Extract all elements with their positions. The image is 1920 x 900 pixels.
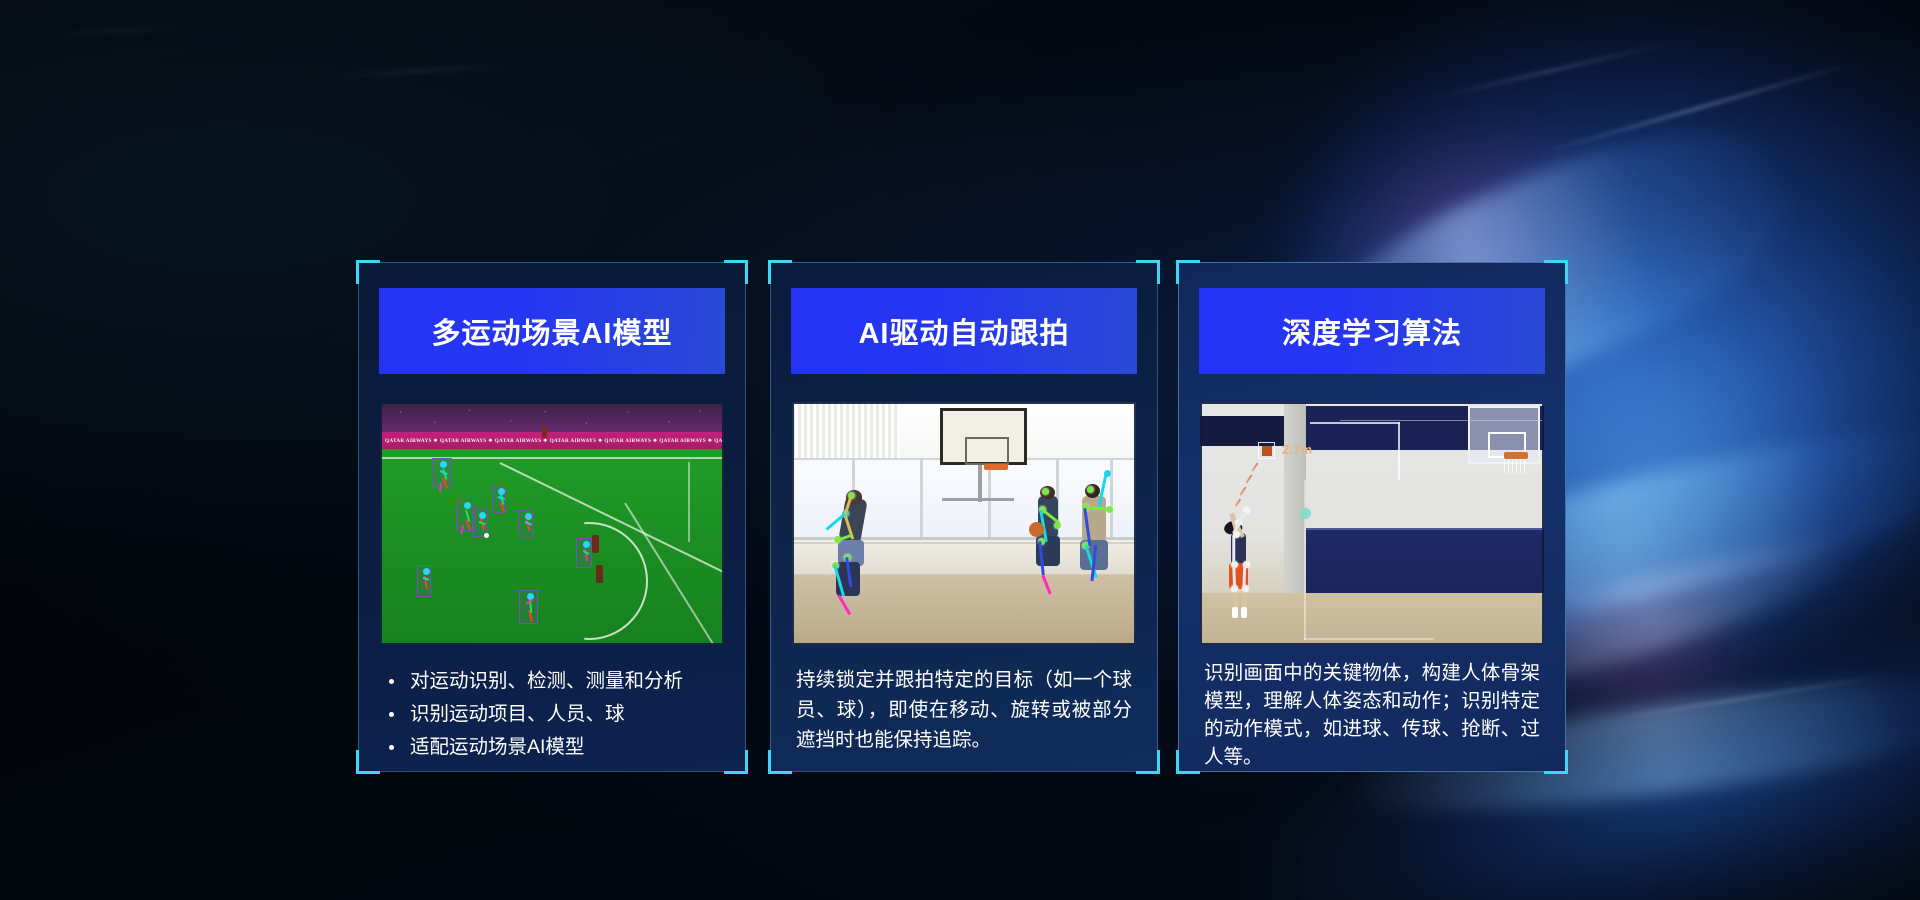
list-item: 适配运动场景AI模型	[384, 733, 720, 762]
card-description: 识别画面中的关键物体，构建人体骨架模型，理解人体姿态和动作；识别特定的动作模式，…	[1204, 659, 1540, 771]
card-title: 多运动场景AI模型	[431, 310, 672, 352]
card-description: 持续锁定并跟拍特定的目标（如一个球员、球），即使在移动、旋转或被部分遮挡时也能保…	[796, 665, 1132, 755]
card-body: 识别画面中的关键物体，构建人体骨架模型，理解人体姿态和动作；识别特定的动作模式，…	[1200, 645, 1544, 771]
card-title: AI驱动自动跟拍	[858, 310, 1069, 352]
feature-card-ai-auto-tracking[interactable]: AI驱动自动跟拍	[770, 262, 1158, 772]
shot-trajectory-tracking-thumbnail[interactable]: 2.7m	[1200, 402, 1544, 645]
feature-card-multi-sport-ai-model[interactable]: 多运动场景AI模型 QATAR AIRWAYS ❖ QATAR AIRWAYS …	[358, 262, 746, 772]
card-title-banner: 深度学习算法	[1199, 288, 1545, 374]
feature-card-deep-learning-algorithm[interactable]: 深度学习算法 2.7m	[1178, 262, 1566, 772]
card-body: 持续锁定并跟拍特定的目标（如一个球员、球），即使在移动、旋转或被部分遮挡时也能保…	[792, 645, 1136, 755]
list-item: 对运动识别、检测、测量和分析	[384, 667, 720, 696]
card-title-banner: 多运动场景AI模型	[379, 288, 725, 374]
list-item: 识别运动项目、人员、球	[384, 700, 720, 729]
card-body: 对运动识别、检测、测量和分析 识别运动项目、人员、球 适配运动场景AI模型	[380, 645, 724, 762]
feature-bullet-list: 对运动识别、检测、测量和分析 识别运动项目、人员、球 适配运动场景AI模型	[384, 667, 720, 762]
thumbnail-border	[792, 402, 1136, 645]
thumbnail-border	[380, 402, 724, 645]
card-title-banner: AI驱动自动跟拍	[791, 288, 1137, 374]
thumbnail-border	[1200, 402, 1544, 645]
feature-card-row: 多运动场景AI模型 QATAR AIRWAYS ❖ QATAR AIRWAYS …	[0, 0, 1920, 900]
card-title: 深度学习算法	[1282, 310, 1462, 352]
soccer-pitch-detection-thumbnail[interactable]: QATAR AIRWAYS ❖ QATAR AIRWAYS ❖ QATAR AI…	[380, 402, 724, 645]
indoor-basketball-pose-thumbnail[interactable]	[792, 402, 1136, 645]
